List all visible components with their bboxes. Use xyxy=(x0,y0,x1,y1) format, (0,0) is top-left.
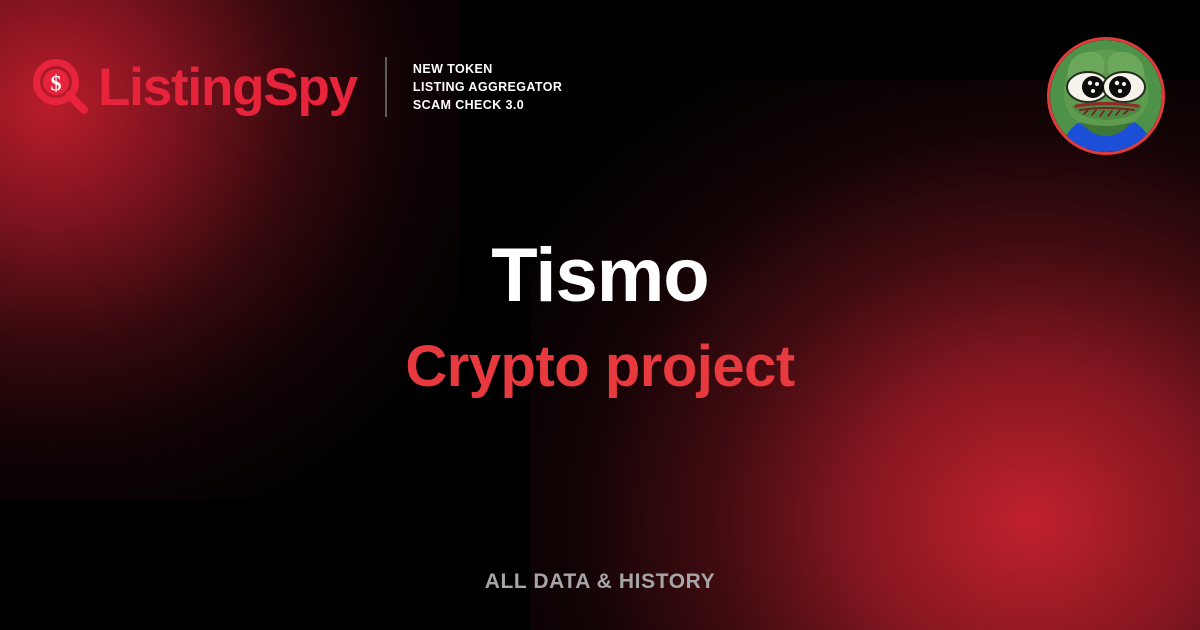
tagline-line-3: SCAM CHECK 3.0 xyxy=(413,98,524,112)
brand-tagline: NEW TOKEN LISTING AGGREGATOR SCAM CHECK … xyxy=(413,60,562,114)
share-card: $ ListingSpy NEW TOKEN LISTING AGGREGATO… xyxy=(0,0,1200,630)
page-subtitle: Crypto project xyxy=(0,338,1200,396)
tagline-line-2: LISTING AGGREGATOR xyxy=(413,80,562,94)
brand-name: ListingSpy xyxy=(98,61,357,114)
pepe-frog-avatar[interactable] xyxy=(1047,37,1165,155)
brand-name-part2: Spy xyxy=(263,58,357,117)
svg-text:$: $ xyxy=(51,71,62,96)
footer: ALL DATA & HISTORY xyxy=(0,570,1200,594)
magnifier-dollar-icon: $ xyxy=(33,59,89,115)
footer-text: ALL DATA & HISTORY xyxy=(485,570,716,593)
brand-lockup[interactable]: $ ListingSpy NEW TOKEN LISTING AGGREGATO… xyxy=(33,57,562,117)
tagline-line-1: NEW TOKEN xyxy=(413,62,493,76)
page-title: Tismo xyxy=(0,238,1200,314)
header: $ ListingSpy NEW TOKEN LISTING AGGREGATO… xyxy=(0,0,1200,190)
hero-block: Tismo Crypto project xyxy=(0,238,1200,396)
brand-name-part1: Listing xyxy=(98,58,263,117)
brand-divider xyxy=(385,57,387,117)
